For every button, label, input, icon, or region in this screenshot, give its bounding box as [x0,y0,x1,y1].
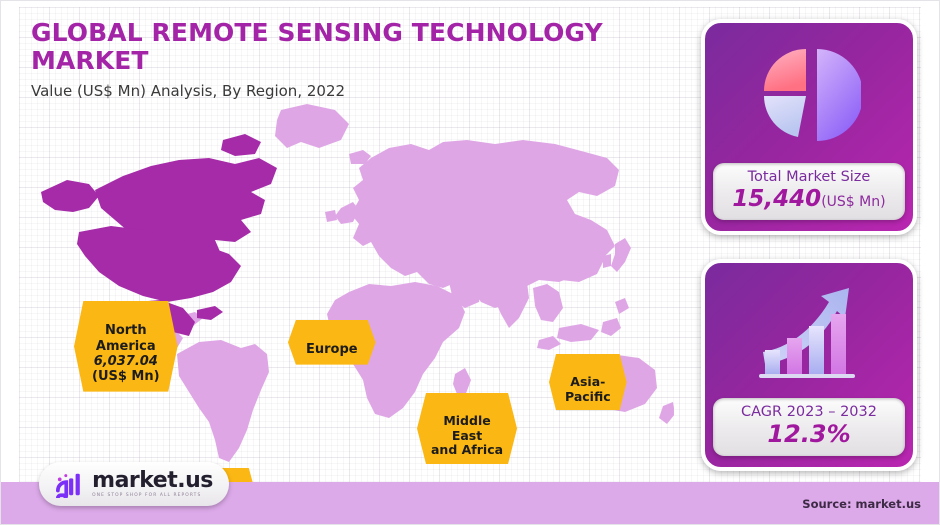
growth-bar-chart-icon [705,263,913,398]
market-size-label: Total Market Size [717,170,901,186]
logo-bars-icon [55,470,85,498]
stat-card-cagr[interactable]: CAGR 2023 – 2032 12.3% [701,259,917,471]
header: GLOBAL REMOTE SENSING TECHNOLOGY MARKET … [31,19,671,100]
market-size-number: 15,440 [732,186,821,212]
pin-label: Asia- Pacific [565,374,611,404]
pin-label: North America [96,323,156,353]
logo-text-wrap: market.us ONE STOP SHOP FOR ALL REPORTS [92,470,213,498]
pin-unit: (US$ Mn) [92,369,160,384]
market-size-value-box: Total Market Size 15,440(US$ Mn) [713,163,905,220]
market-size-value: 15,440(US$ Mn) [717,187,901,211]
pie-chart-icon [705,23,913,163]
map-pin-middle-east-and-africa[interactable]: Middle East and Africa [417,393,517,464]
pin-label: Middle East and Africa [431,413,503,458]
world-map: North America 6,037.04 (US$ Mn) Europe M… [19,96,674,466]
logo-text: market.us [92,470,213,492]
world-map-svg [19,96,674,466]
map-pin-europe[interactable]: Europe [288,320,376,365]
cagr-value: 12.3% [717,422,901,447]
brand-logo[interactable]: market.us ONE STOP SHOP FOR ALL REPORTS [39,462,229,506]
infographic-container: GLOBAL REMOTE SENSING TECHNOLOGY MARKET … [0,0,940,525]
stat-card-market-size[interactable]: Total Market Size 15,440(US$ Mn) [701,19,917,235]
source-text: Source: market.us [802,497,921,511]
pin-label: Europe [306,342,358,357]
logo-tagline: ONE STOP SHOP FOR ALL REPORTS [92,494,213,498]
map-pin-north-america[interactable]: North America 6,037.04 (US$ Mn) [74,301,178,392]
pin-value: 6,037.04 [94,354,158,369]
market-size-unit: (US$ Mn) [821,194,885,210]
cagr-value-box: CAGR 2023 – 2032 12.3% [713,398,905,456]
page-title: GLOBAL REMOTE SENSING TECHNOLOGY MARKET [31,19,671,75]
cagr-label: CAGR 2023 – 2032 [717,405,901,421]
map-pin-asia-pacific[interactable]: Asia- Pacific [549,354,627,410]
